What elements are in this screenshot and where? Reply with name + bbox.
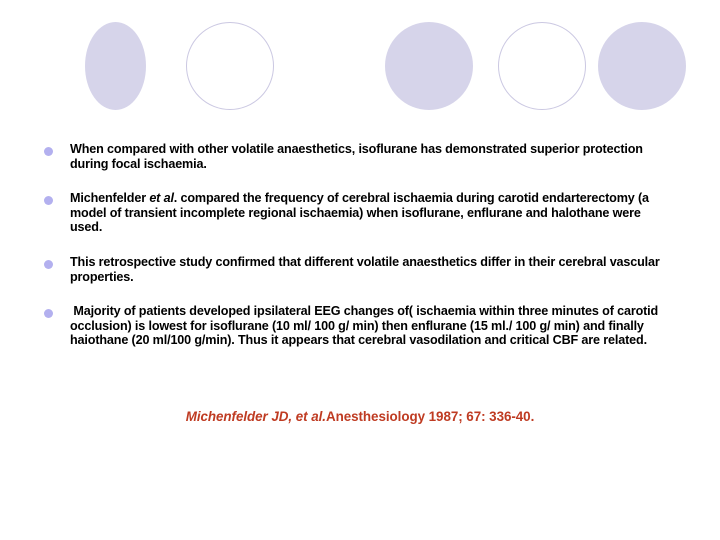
bullet-text-2: Michenfelder et al. compared the frequen… [70,191,674,235]
bullet-text-3: This retrospective study confirmed that … [70,255,674,284]
bullet-marker-icon [44,147,53,156]
deco-ellipse-1 [85,22,146,110]
decorative-ellipse-band [0,0,720,132]
presentation-slide: When compared with other volatile anaest… [0,0,720,540]
citation-authors: Michenfelder JD, et al. [186,409,326,424]
bullet-marker-icon [44,196,53,205]
citation-source: Anesthesiology 1987; 67: 336-40. [326,409,534,424]
bullet-marker-icon [44,309,53,318]
bullet-text-4: Majority of patients developed ipsilater… [70,304,674,348]
bullet-item-3: This retrospective study confirmed that … [0,255,720,284]
bullet-item-2: Michenfelder et al. compared the frequen… [0,191,720,235]
citation-line: Michenfelder JD, et al.Anesthesiology 19… [0,409,720,425]
slide-body: When compared with other volatile anaest… [0,140,720,364]
bullet-marker-icon [44,260,53,269]
bullet-text-1: When compared with other volatile anaest… [70,142,674,171]
deco-ellipse-5 [598,22,686,110]
bullet-item-4: Majority of patients developed ipsilater… [0,304,720,348]
bullet-item-1: When compared with other volatile anaest… [0,142,720,171]
deco-ellipse-3 [385,22,473,110]
deco-ellipse-2 [186,22,274,110]
deco-ellipse-4 [498,22,586,110]
